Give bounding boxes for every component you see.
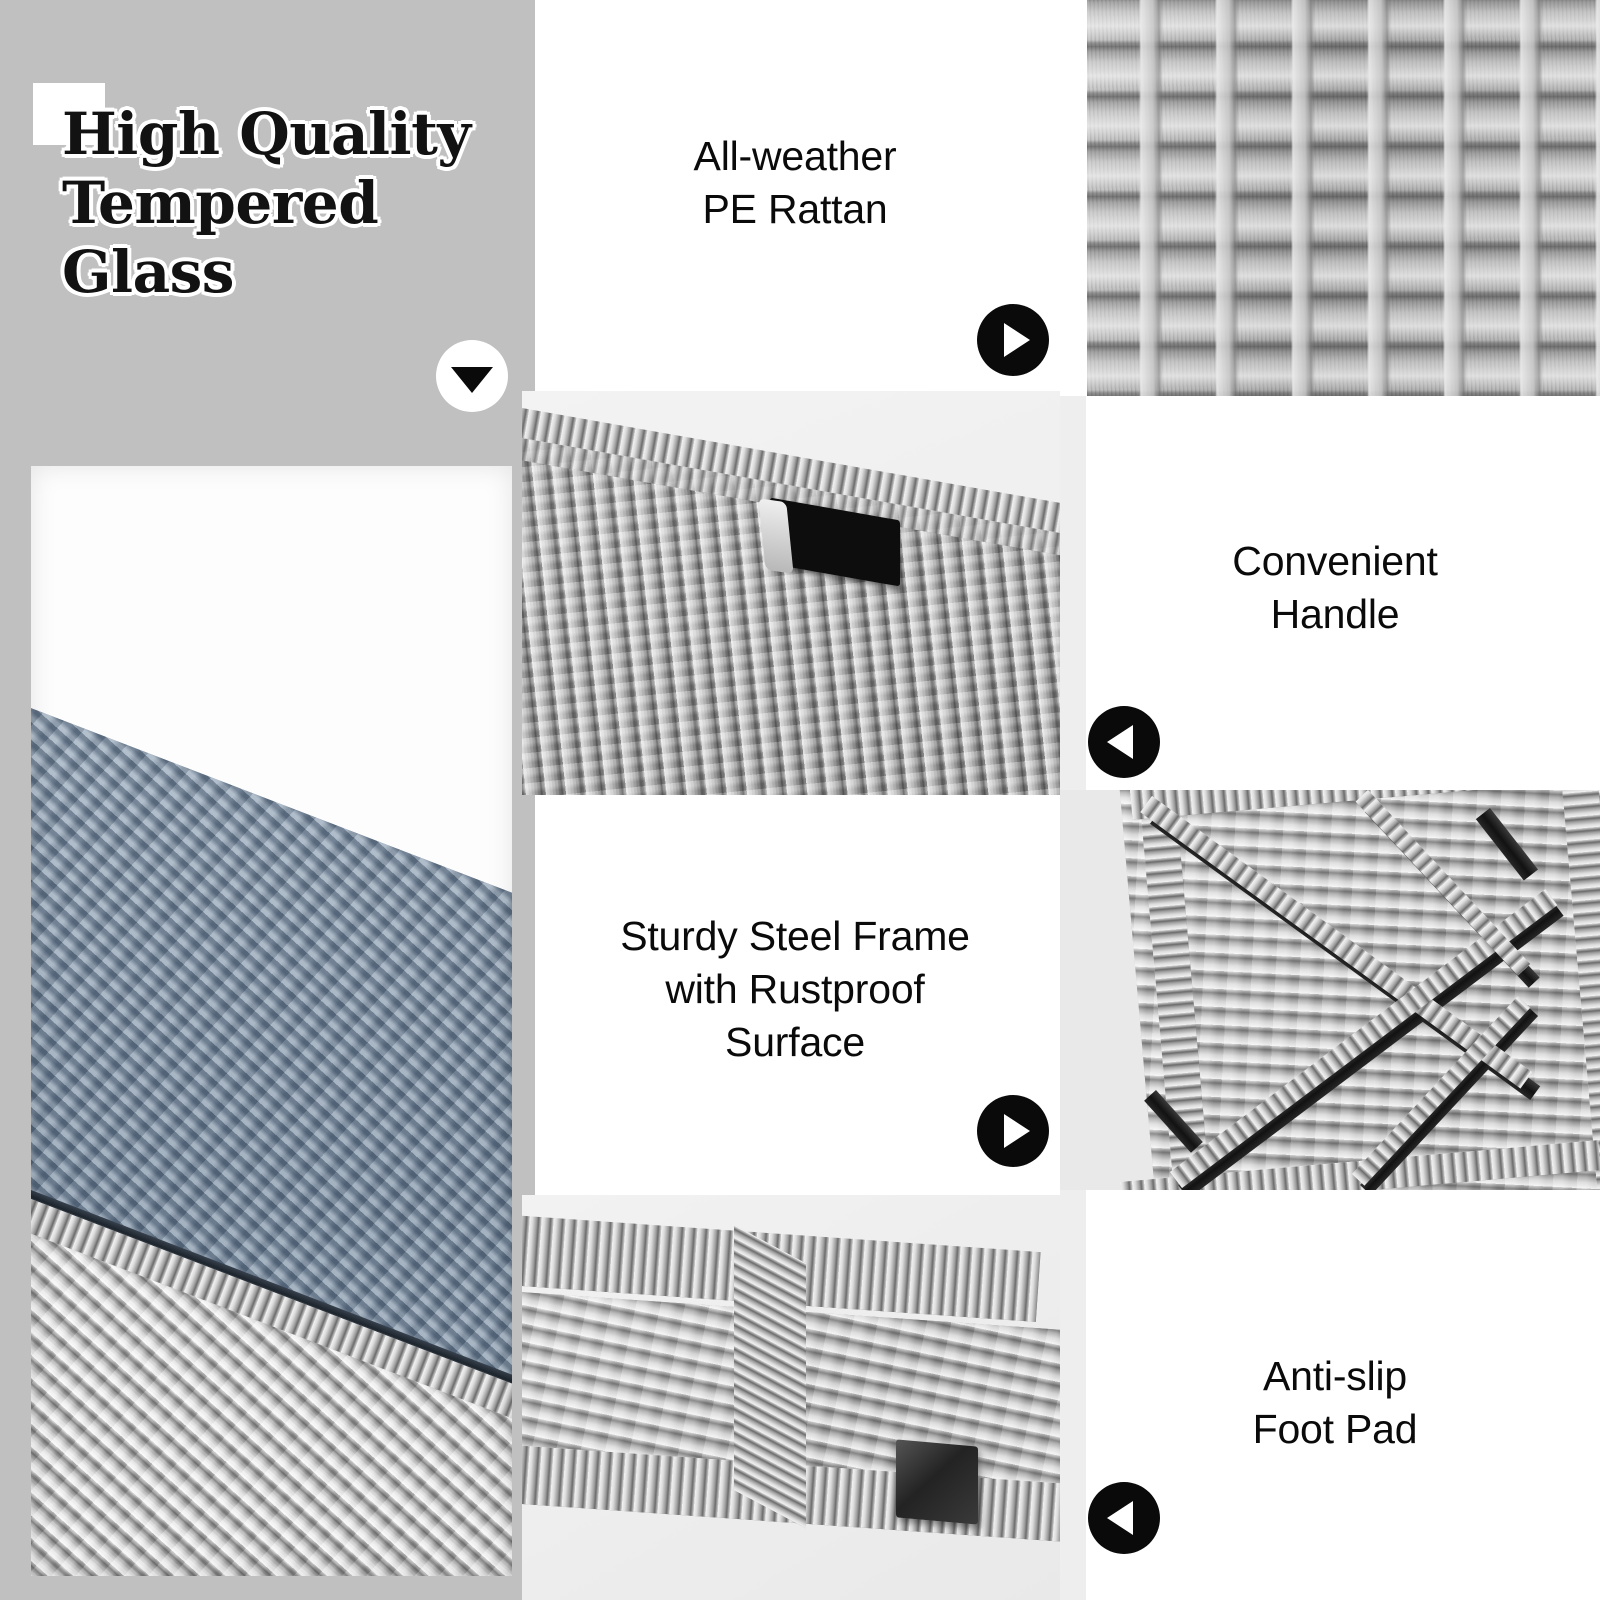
triangle-right-glyph [1004, 1114, 1030, 1148]
photo-tempered-glass-tabletop [31, 466, 512, 1576]
feature-line-2: Foot Pad [1110, 1403, 1560, 1456]
play-left-icon-handle[interactable] [1088, 706, 1160, 778]
feature-label-sturdy-steel-frame: Sturdy Steel Frame with Rustproof Surfac… [535, 910, 1055, 1069]
page-title-line-2: Tempered [62, 169, 492, 238]
feature-line-1: Anti-slip [1110, 1350, 1560, 1403]
infographic-canvas: High Quality Tempered Glass All-weather … [0, 0, 1600, 1600]
feature-line-2: PE Rattan [545, 183, 1045, 236]
page-title: High Quality Tempered Glass [62, 100, 492, 307]
feature-line-2: Handle [1100, 588, 1570, 641]
triangle-left-glyph [1107, 1501, 1133, 1535]
anti-slip-foot-pad [896, 1439, 978, 1524]
feature-label-all-weather-pe-rattan: All-weather PE Rattan [545, 130, 1045, 236]
triangle-left-glyph [1107, 725, 1133, 759]
play-left-icon-foot-pad[interactable] [1088, 1482, 1160, 1554]
triangle-down-glyph [451, 367, 493, 393]
feature-line-1: All-weather [545, 130, 1045, 183]
photo-pe-rattan-weave-closeup [1087, 0, 1600, 396]
right-soft-gray-block-lower [1060, 1190, 1086, 1600]
feature-label-anti-slip-foot-pad: Anti-slip Foot Pad [1110, 1350, 1560, 1456]
triangle-right-glyph [1004, 323, 1030, 357]
photo-rattan-box-handle [522, 391, 1060, 795]
page-title-line-3: Glass [62, 238, 492, 307]
photo-anti-slip-foot-pad-corner [522, 1195, 1060, 1600]
feature-label-convenient-handle: Convenient Handle [1100, 535, 1570, 641]
play-right-icon-steel-frame[interactable] [977, 1095, 1049, 1167]
feature-line-2: with Rustproof [535, 963, 1055, 1016]
feature-line-1: Sturdy Steel Frame [535, 910, 1055, 963]
page-title-line-1: High Quality [62, 100, 492, 169]
play-down-icon[interactable] [436, 340, 508, 412]
feature-line-3: Surface [535, 1016, 1055, 1069]
play-right-icon-pe-rattan[interactable] [977, 304, 1049, 376]
right-soft-gray-block-upper [1060, 396, 1086, 798]
feature-line-1: Convenient [1100, 535, 1570, 588]
shelf-side-rail [734, 1225, 806, 1528]
photo-steel-frame-underside [1060, 790, 1600, 1190]
